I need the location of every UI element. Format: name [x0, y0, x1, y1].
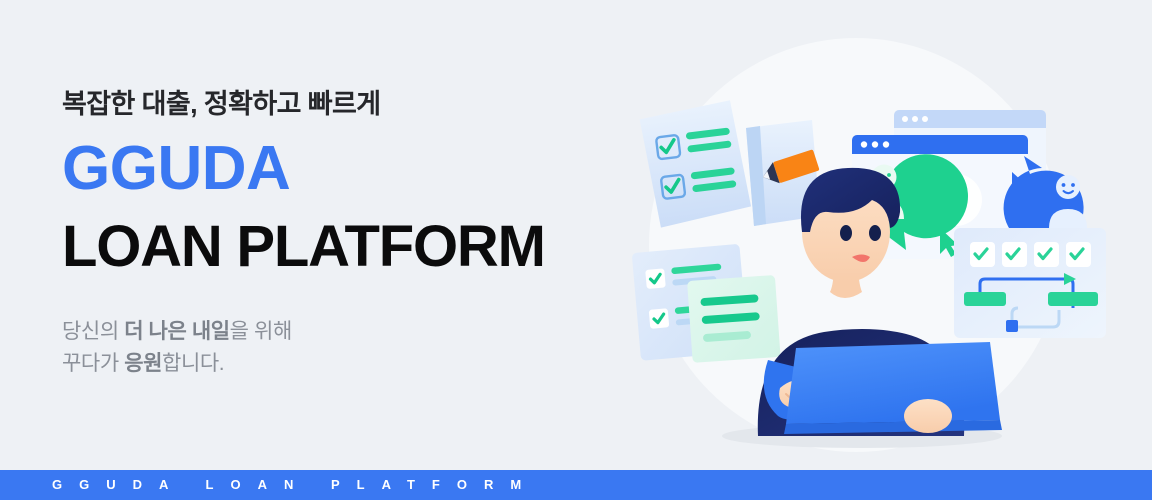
brand-name: GGUDA — [62, 136, 622, 201]
marquee-text: GGUDA LOAN PLATFORM — [52, 470, 538, 500]
hero-copy-block: 복잡한 대출, 정확하고 빠르게 GGUDA LOAN PLATFORM 당신의… — [62, 88, 622, 381]
hero-banner: 복잡한 대출, 정확하고 빠르게 GGUDA LOAN PLATFORM 당신의… — [0, 0, 1152, 500]
flow-card — [954, 228, 1106, 338]
note-card-mint — [687, 275, 781, 363]
person-eye-right — [869, 225, 881, 241]
hero-tagline: 복잡한 대출, 정확하고 빠르게 — [62, 88, 622, 122]
bottom-marquee-bar: GGUDA LOAN PLATFORM — [0, 470, 1152, 500]
subcopy-line-1-pre: 당신의 — [62, 320, 124, 343]
subcopy-line-2-post: 합니다. — [162, 352, 224, 375]
subcopy-line-1-emphasis: 더 나은 내일 — [124, 320, 229, 343]
laptop — [784, 342, 1002, 434]
person-hand-right — [904, 399, 952, 433]
subcopy-line-1-post: 을 위해 — [230, 320, 292, 343]
product-name: LOAN PLATFORM — [62, 215, 622, 280]
subcopy-line-2-emphasis: 응원 — [124, 352, 162, 375]
subcopy-line-1: 당신의 더 나은 내일을 위해 — [62, 316, 622, 349]
subcopy-line-2: 꾸다가 응원합니다. — [62, 348, 622, 381]
subcopy-line-2-pre: 꾸다가 — [62, 352, 124, 375]
laptop-lid — [786, 342, 1000, 424]
person-eye-left — [840, 225, 852, 241]
hero-illustration — [598, 0, 1152, 470]
hero-subcopy: 당신의 더 나은 내일을 위해 꾸다가 응원합니다. — [62, 316, 622, 381]
